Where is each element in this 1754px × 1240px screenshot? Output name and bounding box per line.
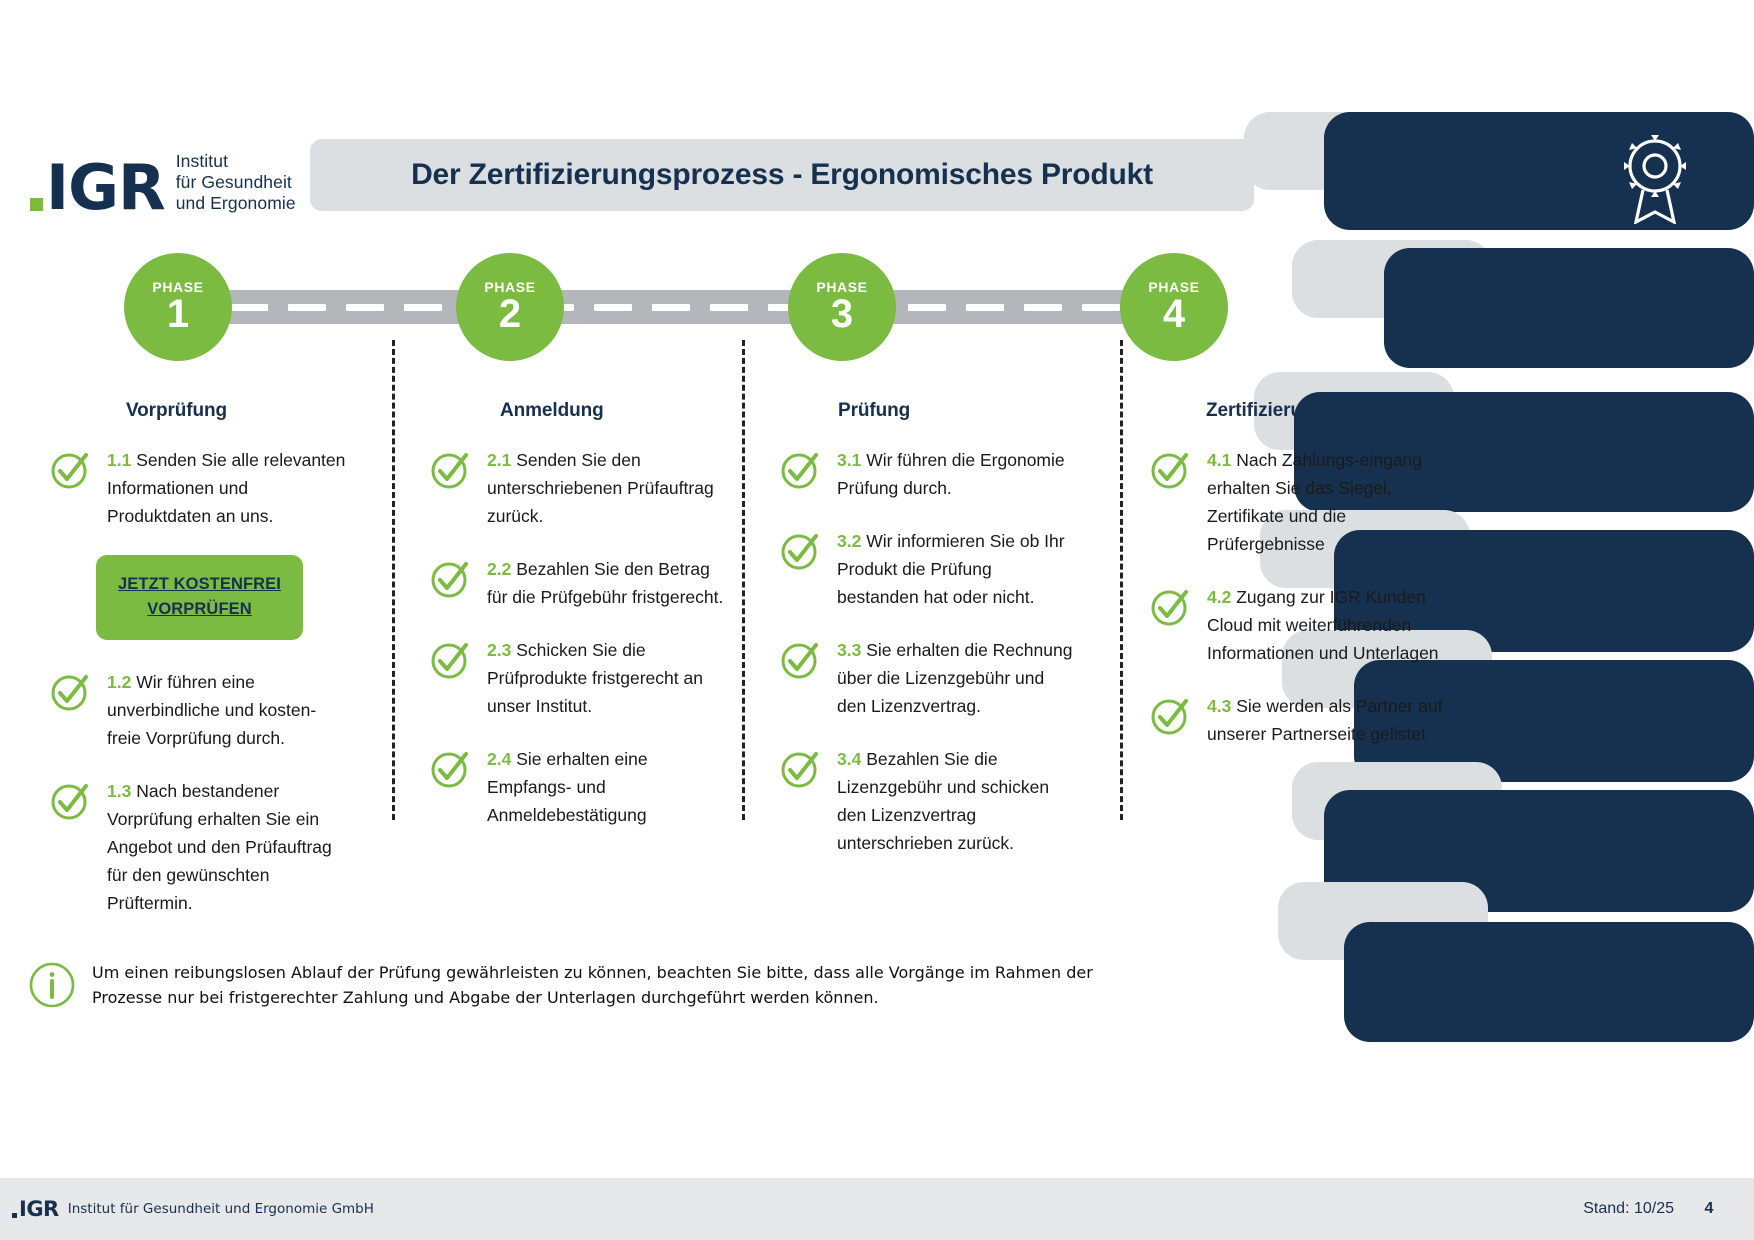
footer-page-number: 4 xyxy=(1674,1200,1744,1218)
list-item-text: 3.2 Wir informieren Sie ob Ihr Produkt d… xyxy=(837,527,1078,611)
list-item: 4.1 Nach Zahlungs-eingang erhalten Sie d… xyxy=(1148,446,1448,558)
deco-block xyxy=(1292,762,1502,840)
list-item-text: 4.1 Nach Zahlungs-eingang erhalten Sie d… xyxy=(1207,446,1448,558)
deco-block xyxy=(1292,240,1492,318)
check-circle-icon xyxy=(778,746,822,790)
list-item: 4.2 Zugang zur IGR Kunden Cloud mit weit… xyxy=(1148,583,1448,667)
deco-block xyxy=(1344,922,1754,1042)
list-item-body: Sie werden als Partner auf unserer Partn… xyxy=(1207,696,1442,744)
list-item-text: 3.3 Sie erhalten die Rechnung über die L… xyxy=(837,636,1078,720)
list-item-body: Wir informieren Sie ob Ihr Produkt die P… xyxy=(837,531,1065,607)
list-item-body: Wir führen die Ergonomie Prüfung durch. xyxy=(837,450,1065,498)
phase-column-3: Prüfung 3.1 Wir führen die Ergonomie Prü… xyxy=(778,400,1078,882)
logo-subtitle-line2: für Gesundheit xyxy=(176,172,296,193)
info-note: Um einen reibungslosen Ablauf der Prüfun… xyxy=(28,960,1108,1010)
list-item-number: 1.3 xyxy=(107,781,131,801)
phase-number: 3 xyxy=(831,293,853,335)
list-item-text: 4.2 Zugang zur IGR Kunden Cloud mit weit… xyxy=(1207,583,1448,667)
road-dash xyxy=(1024,304,1062,311)
page-title: Der Zertifizierungsprozess - Ergonomisch… xyxy=(411,158,1153,192)
logo-dot-icon xyxy=(30,198,43,211)
list-item: 1.3 Nach bestandener Vorprüfung erhalten… xyxy=(48,777,348,917)
list-item: 2.4 Sie erhalten eine Empfangs- und Anme… xyxy=(428,745,728,829)
list-item-body: Bezahlen Sie den Betrag für die Prüfgebü… xyxy=(487,559,723,607)
check-circle-icon xyxy=(428,746,472,790)
phase-column-1: Vorprüfung 1.1 Senden Sie alle relevante… xyxy=(48,400,348,942)
list-item-number: 3.3 xyxy=(837,640,861,660)
list-item-number: 4.2 xyxy=(1207,587,1231,607)
info-icon xyxy=(28,961,76,1009)
cta-line-2: VORPRÜFEN xyxy=(102,597,297,622)
phase-number: 4 xyxy=(1163,293,1185,335)
list-item-number: 1.2 xyxy=(107,672,131,692)
list-item-number: 2.1 xyxy=(487,450,511,470)
check-circle-icon xyxy=(428,556,472,600)
cta-line-1: JETZT KOSTENFREI xyxy=(102,572,297,597)
list-item-text: 3.1 Wir führen die Ergonomie Prüfung dur… xyxy=(837,446,1078,502)
roadmap-road xyxy=(210,290,1200,324)
column-heading: Vorprüfung xyxy=(126,400,348,422)
column-heading: Anmeldung xyxy=(500,400,728,422)
list-item-number: 4.1 xyxy=(1207,450,1231,470)
road-dash xyxy=(288,304,326,311)
check-circle-icon xyxy=(428,637,472,681)
check-circle-icon xyxy=(1148,693,1192,737)
phase-number: 1 xyxy=(167,293,189,335)
list-item-body: Wir führen eine unverbindliche und koste… xyxy=(107,672,316,748)
check-circle-icon xyxy=(778,528,822,572)
list-item: 3.4 Bezahlen Sie die Lizenzgebühr und sc… xyxy=(778,745,1078,857)
phase-marker-3[interactable]: PHASE 3 xyxy=(788,253,896,361)
list-item-text: 1.1 Senden Sie alle relevanten Informati… xyxy=(107,446,348,530)
road-dash xyxy=(966,304,1004,311)
column-heading: Zertifizierung xyxy=(1206,400,1448,422)
list-item-text: 3.4 Bezahlen Sie die Lizenzgebühr und sc… xyxy=(837,745,1078,857)
deco-block xyxy=(1384,248,1754,368)
logo-subtitle: Institut für Gesundheit und Ergonomie xyxy=(176,151,296,214)
list-item-text: 4.3 Sie werden als Partner auf unserer P… xyxy=(1207,692,1448,748)
check-circle-icon xyxy=(48,778,92,822)
list-item: 3.3 Sie erhalten die Rechnung über die L… xyxy=(778,636,1078,720)
road-dash xyxy=(404,304,442,311)
column-heading: Prüfung xyxy=(838,400,1078,422)
phase-column-2: Anmeldung 2.1 Senden Sie den unterschrie… xyxy=(428,400,728,854)
road-dash xyxy=(1082,304,1120,311)
list-item: 2.1 Senden Sie den unterschriebenen Prüf… xyxy=(428,446,728,530)
list-item-number: 4.3 xyxy=(1207,696,1231,716)
road-dash xyxy=(710,304,748,311)
list-item-number: 2.3 xyxy=(487,640,511,660)
list-item-text: 2.4 Sie erhalten eine Empfangs- und Anme… xyxy=(487,745,728,829)
list-item-number: 3.2 xyxy=(837,531,861,551)
footer-revision-date: Stand: 10/25 xyxy=(1583,1200,1674,1218)
check-circle-icon xyxy=(1148,447,1192,491)
list-item: 1.2 Wir führen eine unverbindliche und k… xyxy=(48,668,348,752)
list-item: 3.1 Wir führen die Ergonomie Prüfung dur… xyxy=(778,446,1078,502)
check-circle-icon xyxy=(778,447,822,491)
footer-company-name: Institut für Gesundheit und Ergonomie Gm… xyxy=(68,1201,374,1217)
list-item-body: Sie erhalten die Rechnung über die Lizen… xyxy=(837,640,1072,716)
list-item-body: Nach bestandener Vorprüfung erhalten Sie… xyxy=(107,781,332,913)
info-note-text: Um einen reibungslosen Ablauf der Prüfun… xyxy=(92,960,1108,1010)
footer-logo-dot-icon xyxy=(12,1213,17,1218)
list-item-text: 2.2 Bezahlen Sie den Betrag für die Prüf… xyxy=(487,555,728,611)
list-item-number: 1.1 xyxy=(107,450,131,470)
list-item-body: Sie erhalten eine Empfangs- und Anmeldeb… xyxy=(487,749,648,825)
road-dash xyxy=(230,304,268,311)
check-circle-icon xyxy=(778,637,822,681)
check-circle-icon xyxy=(1148,584,1192,628)
igr-logo: IGR Institut für Gesundheit und Ergonomi… xyxy=(30,142,296,216)
page-footer: IGR Institut für Gesundheit und Ergonomi… xyxy=(0,1178,1754,1240)
page-title-bar: Der Zertifizierungsprozess - Ergonomisch… xyxy=(310,139,1254,211)
list-item: 4.3 Sie werden als Partner auf unserer P… xyxy=(1148,692,1448,748)
deco-block xyxy=(1324,790,1754,912)
deco-block xyxy=(1278,882,1488,960)
list-item: 2.2 Bezahlen Sie den Betrag für die Prüf… xyxy=(428,555,728,611)
deco-block xyxy=(1244,112,1454,190)
list-item-number: 2.4 xyxy=(487,749,511,769)
list-item-body: Senden Sie den unterschriebenen Prüfauft… xyxy=(487,450,714,526)
list-item-body: Senden Sie alle relevanten Informationen… xyxy=(107,450,345,526)
check-circle-icon xyxy=(48,447,92,491)
list-item-body: Schicken Sie die Prüfprodukte fristgerec… xyxy=(487,640,703,716)
phase-column-4: Zertifizierung 4.1 Nach Zahlungs-eingang… xyxy=(1148,400,1448,773)
list-item-number: 3.1 xyxy=(837,450,861,470)
list-item-body: Nach Zahlungs-eingang erhalten Sie das S… xyxy=(1207,450,1422,554)
road-dash xyxy=(594,304,632,311)
list-item-text: 1.3 Nach bestandener Vorprüfung erhalten… xyxy=(107,777,348,917)
list-item-body: Bezahlen Sie die Lizenzgebühr und schick… xyxy=(837,749,1049,853)
column-divider xyxy=(742,340,745,820)
free-precheck-button[interactable]: JETZT KOSTENFREI VORPRÜFEN xyxy=(96,555,303,640)
column-divider xyxy=(1120,340,1123,820)
logo-subtitle-line1: Institut xyxy=(176,151,296,172)
road-dash xyxy=(908,304,946,311)
road-dash xyxy=(346,304,384,311)
footer-logo-mark: IGR xyxy=(19,1197,59,1221)
logo-mark: IGR xyxy=(46,160,165,216)
check-circle-icon xyxy=(48,669,92,713)
check-circle-icon xyxy=(428,447,472,491)
list-item: 2.3 Schicken Sie die Prüfprodukte fristg… xyxy=(428,636,728,720)
list-item-body: Zugang zur IGR Kunden Cloud mit weiterfü… xyxy=(1207,587,1439,663)
list-item-text: 1.2 Wir führen eine unverbindliche und k… xyxy=(107,668,348,752)
list-item-number: 3.4 xyxy=(837,749,861,769)
column-divider xyxy=(392,340,395,820)
road-dash xyxy=(652,304,690,311)
list-item: 1.1 Senden Sie alle relevanten Informati… xyxy=(48,446,348,530)
list-item-number: 2.2 xyxy=(487,559,511,579)
phase-marker-4[interactable]: PHASE 4 xyxy=(1120,253,1228,361)
list-item: 3.2 Wir informieren Sie ob Ihr Produkt d… xyxy=(778,527,1078,611)
phase-number: 2 xyxy=(499,293,521,335)
logo-subtitle-line3: und Ergonomie xyxy=(176,193,296,214)
list-item-text: 2.1 Senden Sie den unterschriebenen Prüf… xyxy=(487,446,728,530)
list-item-text: 2.3 Schicken Sie die Prüfprodukte fristg… xyxy=(487,636,728,720)
certification-seal-icon xyxy=(1612,132,1698,224)
phase-marker-1[interactable]: PHASE 1 xyxy=(124,253,232,361)
phase-marker-2[interactable]: PHASE 2 xyxy=(456,253,564,361)
